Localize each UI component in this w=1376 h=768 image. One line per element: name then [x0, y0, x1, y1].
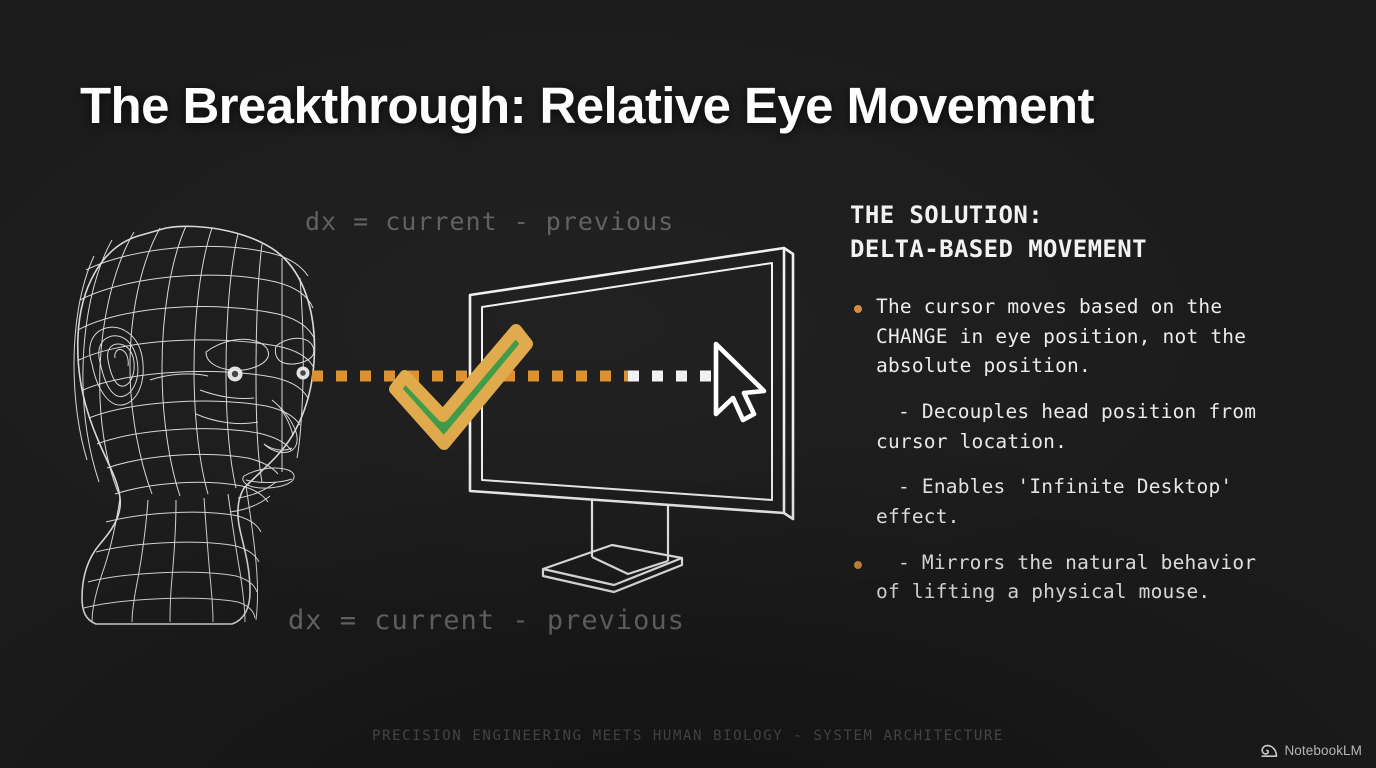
panel-heading: THE SOLUTION: DELTA-BASED MOVEMENT — [850, 198, 1320, 266]
wireframe-head-icon — [74, 226, 315, 624]
diagram-illustration — [0, 0, 840, 768]
list-item-label: - Decouples head position from cursor lo… — [876, 400, 1256, 453]
solution-panel: THE SOLUTION: DELTA-BASED MOVEMENT The c… — [850, 198, 1320, 623]
list-item-label: The cursor moves based on the CHANGE in … — [876, 295, 1246, 377]
bullet-dot-icon — [854, 485, 862, 493]
list-item-label: - Enables 'Infinite Desktop' effect. — [876, 475, 1232, 528]
list-item: - Mirrors the natural behavior of liftin… — [850, 548, 1320, 607]
notebooklm-brand: NotebookLM — [1261, 743, 1362, 758]
list-item: The cursor moves based on the CHANGE in … — [850, 292, 1320, 381]
list-item-label: - Mirrors the natural behavior of liftin… — [876, 551, 1256, 604]
mouse-cursor-icon — [716, 344, 764, 420]
bullet-dot-icon — [854, 561, 862, 569]
bullet-dot-icon — [854, 305, 862, 313]
list-item: - Decouples head position from cursor lo… — [850, 397, 1320, 456]
notebooklm-wordmark: NotebookLM — [1284, 743, 1362, 758]
notebooklm-spiral-icon — [1261, 744, 1278, 758]
list-item: - Enables 'Infinite Desktop' effect. — [850, 472, 1320, 531]
bullet-dot-icon — [854, 410, 862, 418]
check-mark-icon — [395, 330, 527, 444]
slide-root: The Breakthrough: Relative Eye Movement … — [0, 0, 1376, 768]
footer-caption: PRECISION ENGINEERING MEETS HUMAN BIOLOG… — [0, 728, 1376, 744]
